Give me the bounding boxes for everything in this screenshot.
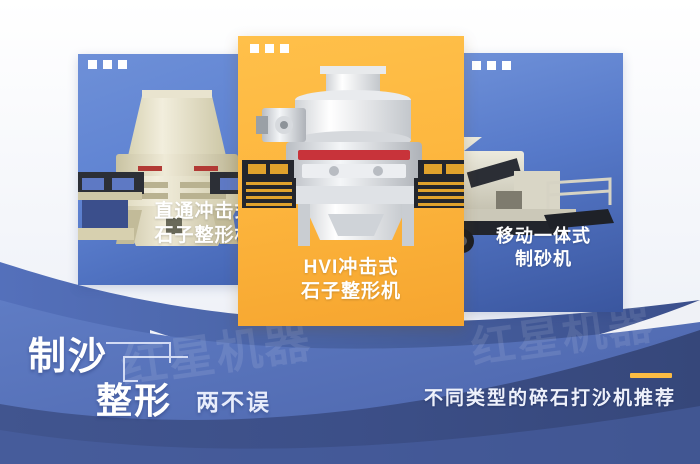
card2-caption-line1: HVI冲击式 <box>238 256 464 280</box>
card3-caption-line2: 制砂机 <box>464 248 623 271</box>
card2-caption: HVI冲击式 石子整形机 <box>238 256 464 305</box>
card3-caption-line1: 移动一体式 <box>464 225 623 248</box>
tagline-zhengxing: 整形 <box>96 372 172 424</box>
card2-dots-decoration <box>250 44 289 53</box>
accent-bar <box>630 373 672 378</box>
card2-caption-line2: 石子整形机 <box>238 280 464 304</box>
card3-caption: 移动一体式 制砂机 <box>464 225 623 271</box>
card-hvi-impact[interactable]: HVI冲击式 石子整形机 <box>238 36 464 326</box>
card3-dots-decoration <box>472 61 511 70</box>
card-mobile-integrated[interactable]: 移动一体式 制砂机 <box>464 53 623 312</box>
subheadline: 不同类型的碎石打沙机推荐 <box>424 383 676 410</box>
hvi-impact-crusher-image <box>242 64 464 254</box>
promo-banner: 红星机器 红星机器 <box>0 0 700 464</box>
tagline-liangbuwu: 两不误 <box>196 383 271 417</box>
